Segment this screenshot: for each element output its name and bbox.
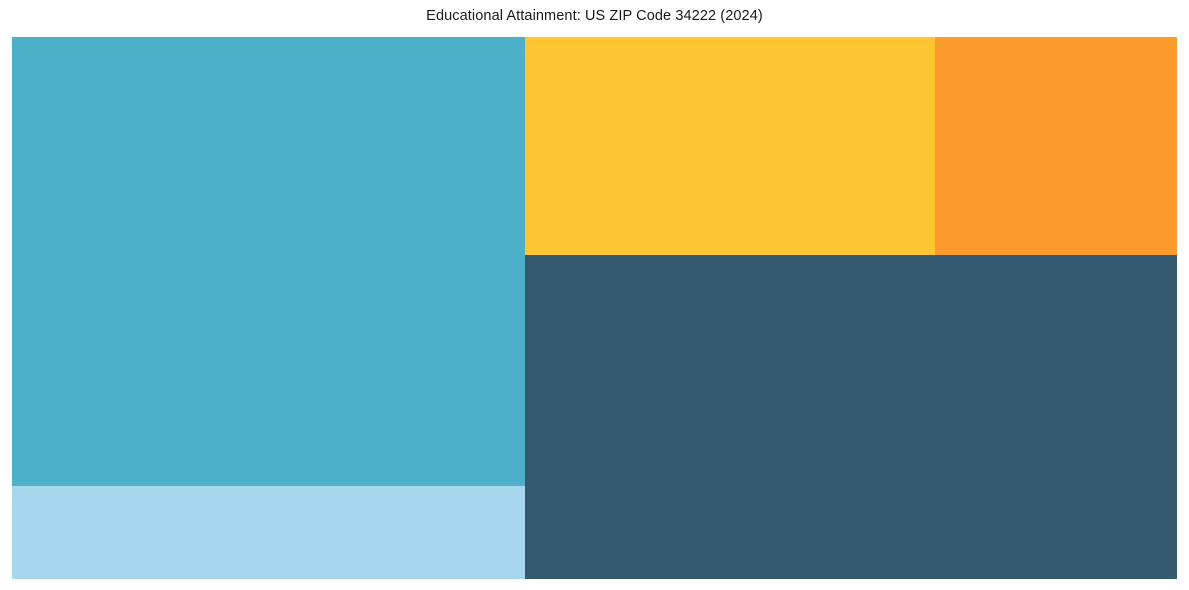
treemap-plot-area: High school graduate (or equivalency)Bac… <box>12 37 1177 579</box>
treemap-tile-associates-degree[interactable]: Associate's degree <box>935 37 1177 255</box>
treemap-tile-high-school-graduate[interactable]: High school graduate (or equivalency) <box>12 37 525 486</box>
treemap-figure: Educational Attainment: US ZIP Code 3422… <box>0 0 1189 590</box>
treemap-tile-some-college-no-degree[interactable]: Some college, no degree <box>525 37 935 255</box>
treemap-tile-bachelors-degree[interactable]: Bachelor's degree <box>525 255 1177 579</box>
chart-title: Educational Attainment: US ZIP Code 3422… <box>0 7 1189 25</box>
treemap-tile-graduate-or-professional-degree[interactable]: Graduate or professional degree <box>12 486 525 579</box>
